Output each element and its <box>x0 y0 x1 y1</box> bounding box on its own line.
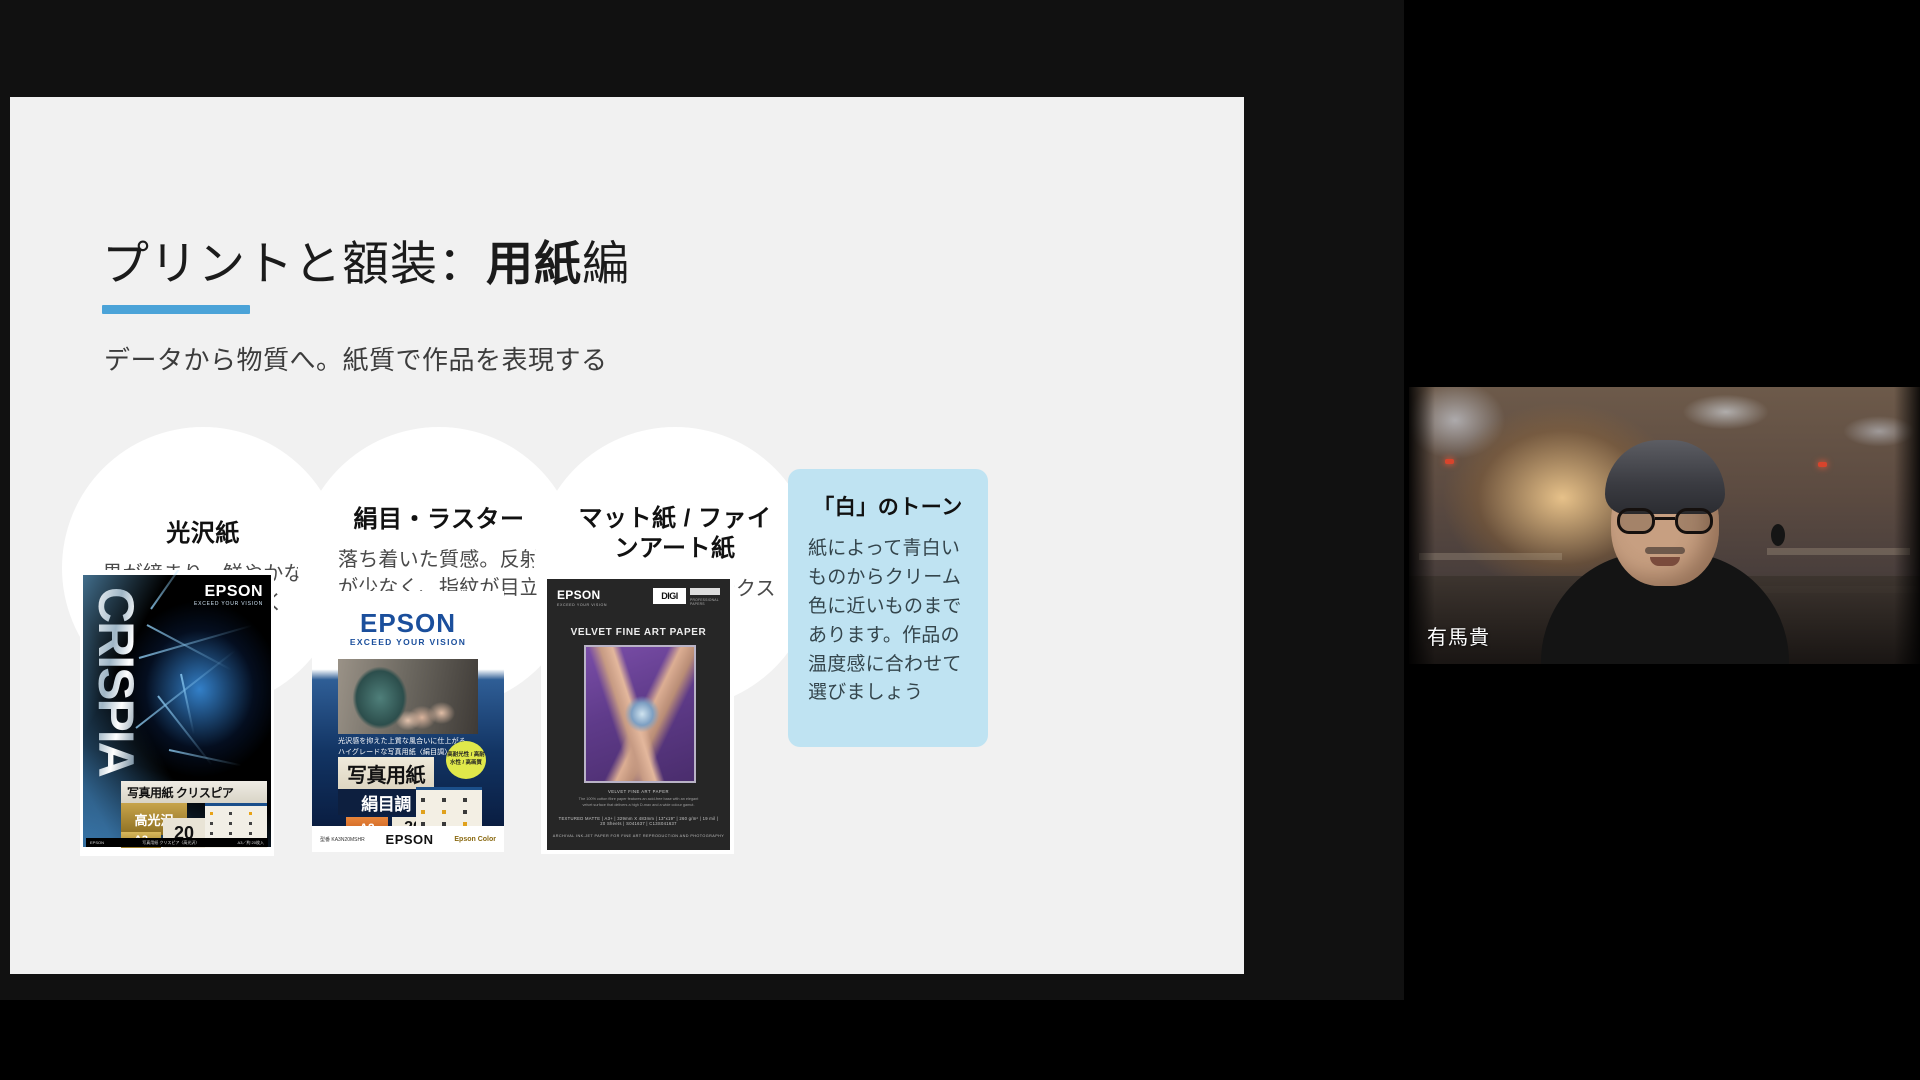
silk-model-number: 型番 KA3N20MSHR <box>320 836 365 843</box>
epson-logo: EPSON EXCEED YOUR VISION <box>557 588 607 607</box>
title-accent-rule <box>102 305 250 314</box>
white-tone-callout: 「白」のトーン 紙によって青白いものからクリーム色に近いものまであります。作品の… <box>788 469 988 747</box>
glasses-icon <box>1617 508 1713 534</box>
epson-color-logo: Epson Color <box>454 836 496 843</box>
velvet-caption-body: The 100% cotton fibre paper features an … <box>575 796 702 808</box>
crispia-footer-right: A3／約 20枚入 <box>238 840 264 846</box>
participant-video-tile[interactable]: 有馬貴 <box>1409 387 1920 664</box>
velvet-caption-title: VELVET FINE ART PAPER <box>547 789 730 794</box>
epson-logo-footer: EPSON <box>386 832 434 847</box>
professional-papers-bar <box>690 588 720 595</box>
page-title: プリントと額装：用紙編 <box>102 237 630 291</box>
crispia-footer-center: 写真用紙 クリスピア〈高光沢〉 <box>142 840 199 846</box>
participant-figure <box>1541 464 1789 664</box>
silk-footer: 型番 KA3N20MSHR EPSON Epson Color <box>312 826 504 852</box>
silk-sample-photo <box>338 659 478 734</box>
page-subtitle: データから物質へ。紙質で作品を表現する <box>104 340 608 377</box>
silk-product-name: 写真用紙 <box>338 757 434 789</box>
epson-logo: EPSON <box>204 583 263 601</box>
product-image-crispia: CRISPIA EPSON EXCEED YOUR VISION 写真用紙 クリ… <box>80 570 274 856</box>
professional-papers-text: PROFESSIONAL PAPERS <box>690 598 722 607</box>
participant-name-label: 有馬貴 <box>1427 621 1490 650</box>
page-title-plain-before: プリントと額装： <box>102 237 486 290</box>
epson-logo-text: EPSON <box>557 588 601 602</box>
epson-tagline: EXCEED YOUR VISION <box>557 603 607 607</box>
callout-body: 紙によって青白いものからクリーム色に近いものまであります。作品の温度感に合わせて… <box>808 535 968 708</box>
digigraphie-badge-text: DIGI <box>661 591 678 601</box>
crispia-product-name-band: 写真用紙 クリスピア <box>121 781 267 803</box>
crispia-footer: EPSON 写真用紙 クリスピア〈高光沢〉 A3／約 20枚入 <box>86 838 268 847</box>
product-image-silk: EPSON EXCEED YOUR VISION 光沢感を抑えた上質な風合いに仕… <box>312 591 504 852</box>
epson-logo: EPSON <box>312 608 504 639</box>
participant-mouth <box>1650 557 1680 566</box>
earphone-icon <box>1771 524 1785 546</box>
product-image-velvet-fine-art: EPSON EXCEED YOUR VISION DIGI PROFESSION… <box>541 573 734 854</box>
velvet-artwork: EPSON EXCEED YOUR VISION DIGI PROFESSION… <box>541 573 734 854</box>
page-title-plain-after: 編 <box>582 237 630 290</box>
crispia-footer-left: EPSON <box>90 840 104 845</box>
participant-moustache <box>1645 547 1685 554</box>
shared-screen-region: プリントと額装：用紙編 データから物質へ。紙質で作品を表現する 光沢紙 黒が締ま… <box>0 0 1404 1000</box>
circle-title: 光沢紙 <box>166 519 240 549</box>
silk-artwork: EPSON EXCEED YOUR VISION 光沢感を抑えた上質な風合いに仕… <box>312 591 504 852</box>
presentation-slide: プリントと額装：用紙編 データから物質へ。紙質で作品を表現する 光沢紙 黒が締ま… <box>10 97 1244 974</box>
page-title-bold: 用紙 <box>486 237 582 290</box>
velvet-inner-panel: EPSON EXCEED YOUR VISION DIGI PROFESSION… <box>547 579 730 850</box>
digigraphie-badge: DIGI <box>653 588 686 604</box>
velvet-bottom-line: ARCHIVAL INK-JET PAPER FOR FINE ART REPR… <box>547 834 730 838</box>
professional-papers-badge: PROFESSIONAL PAPERS <box>690 588 722 607</box>
velvet-sample-artwork <box>584 645 696 783</box>
video-vignette-right <box>1894 387 1920 664</box>
epson-tagline: EXCEED YOUR VISION <box>194 601 263 607</box>
circle-title: 絹目・ラスター <box>353 505 524 535</box>
silk-quality-seal: 高耐光性 / 高耐水性 / 高画質 <box>446 741 486 779</box>
epson-tagline: EXCEED YOUR VISION <box>312 637 504 647</box>
crispia-product-name: 写真用紙 クリスピア <box>121 784 233 801</box>
crispia-artwork: CRISPIA EPSON EXCEED YOUR VISION 写真用紙 クリ… <box>83 575 271 847</box>
velvet-specs: TEXTURED MATTE | A3+ | 329mm X 483mm | 1… <box>557 816 720 826</box>
screen: プリントと額装：用紙編 データから物質へ。紙質で作品を表現する 光沢紙 黒が締ま… <box>0 0 1920 1080</box>
circle-title: マット紙 / ファインアート紙 <box>568 504 782 564</box>
velvet-heading: VELVET FINE ART PAPER <box>547 627 730 638</box>
callout-title: 「白」のトーン <box>808 491 968 521</box>
